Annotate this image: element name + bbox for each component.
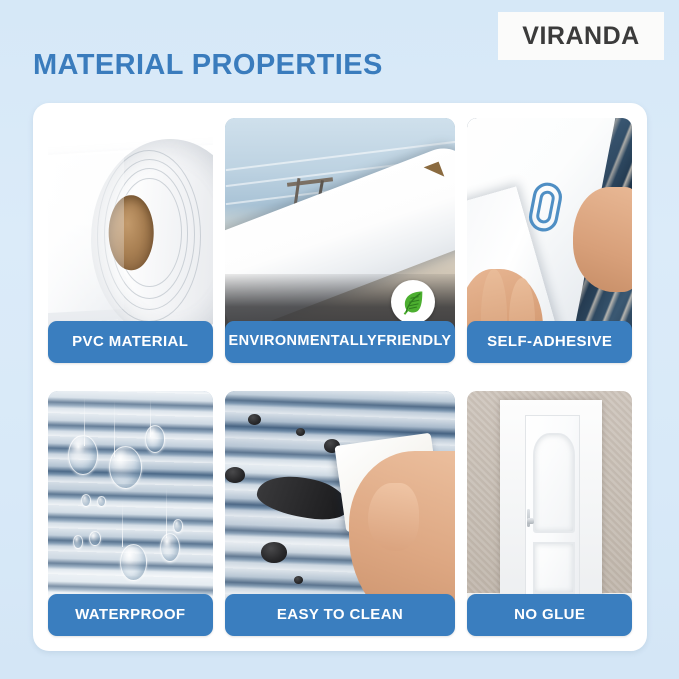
water-droplet (173, 519, 183, 532)
water-streak (166, 487, 167, 537)
feature-card-pvc-material[interactable]: PVC MATERIAL (48, 118, 213, 363)
door-panel-top (533, 433, 575, 533)
feature-card-no-glue[interactable]: NO GLUE (467, 391, 632, 636)
self-adhesive-image (467, 118, 632, 347)
eco-film-image (225, 118, 456, 347)
page-title: MATERIAL PROPERTIES (33, 49, 383, 82)
water-droplet (109, 446, 142, 489)
infographic-page: VIRANDA MATERIAL PROPERTIES PVC MATERIAL (0, 0, 679, 679)
door-handle (527, 518, 534, 524)
label-line-2: FRIENDLY (377, 334, 451, 349)
water-droplet (120, 544, 147, 580)
waterproof-image (48, 391, 213, 620)
wood-grain-surface (48, 391, 213, 620)
leaf-icon (391, 280, 435, 324)
water-streak (122, 501, 123, 547)
feature-card-waterproof[interactable]: WATERPROOF (48, 391, 213, 636)
roll-highlight (48, 153, 124, 313)
feature-label-no-glue: NO GLUE (467, 594, 632, 636)
stain-spot (261, 542, 286, 563)
stain-spot (296, 428, 305, 436)
door-frame (500, 400, 602, 611)
feature-label-waterproof: WATERPROOF (48, 594, 213, 636)
door-panel-bottom (533, 542, 575, 594)
feature-card-self-adhesive[interactable]: SELF-ADHESIVE (467, 118, 632, 363)
water-droplet (145, 425, 165, 452)
water-streak (114, 400, 115, 457)
easy-to-clean-image (225, 391, 456, 620)
feature-label-environmentally-friendly: ENVIRONMENTALLY FRIENDLY (225, 321, 456, 363)
feature-grid: PVC MATERIAL (48, 118, 632, 636)
feature-card-environmentally-friendly[interactable]: ENVIRONMENTALLY FRIENDLY (225, 118, 456, 363)
thumb (368, 483, 419, 552)
water-droplet (68, 435, 98, 476)
feature-label-pvc-material: PVC MATERIAL (48, 321, 213, 363)
door-leaf (525, 415, 580, 602)
feature-label-easy-to-clean: EASY TO CLEAN (225, 594, 456, 636)
no-glue-image (467, 391, 632, 620)
brand-name: VIRANDA (522, 22, 639, 51)
brand-logo: VIRANDA (498, 12, 664, 60)
label-line-1: ENVIRONMENTALLY (229, 334, 378, 349)
water-droplet (73, 535, 83, 548)
feature-card-easy-to-clean[interactable]: EASY TO CLEAN (225, 391, 456, 636)
pvc-roll-image (48, 118, 213, 347)
stain-spot (225, 467, 246, 483)
feature-label-self-adhesive: SELF-ADHESIVE (467, 321, 632, 363)
